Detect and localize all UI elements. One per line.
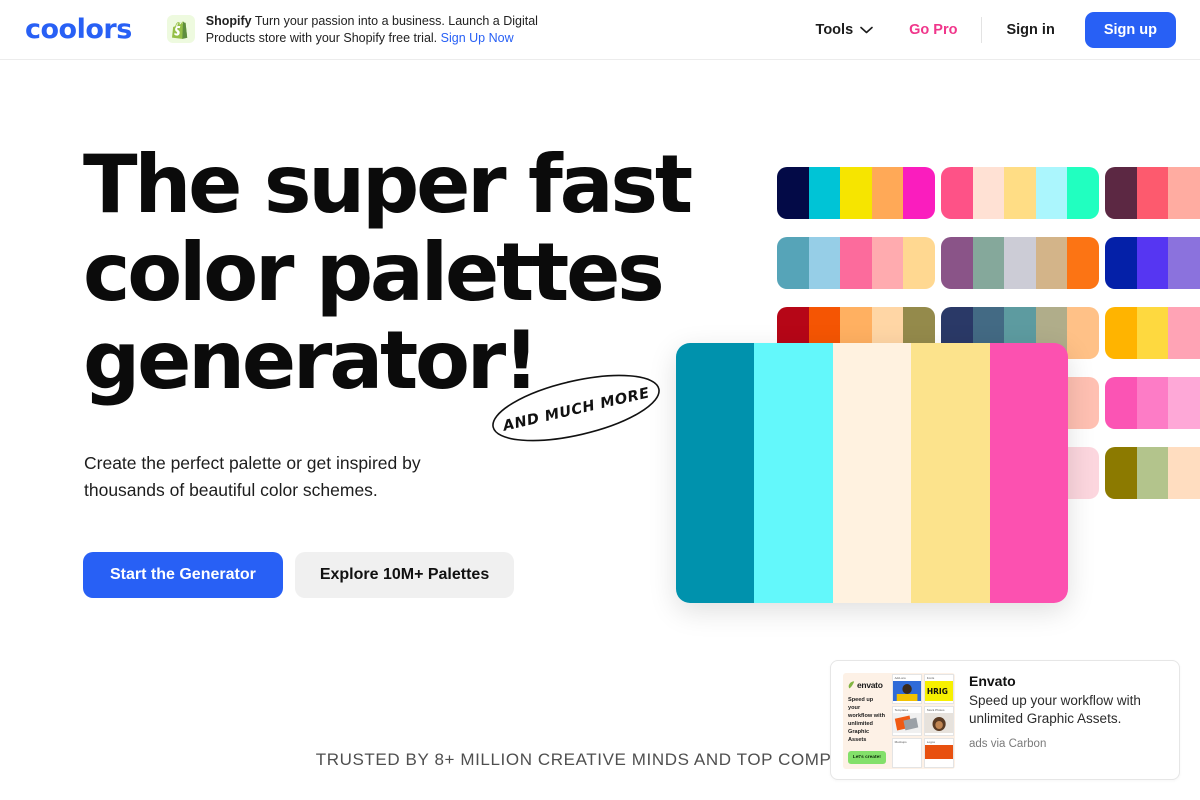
palette-swatch[interactable] [872,167,904,219]
carbon-ad-body: Envato Speed up your workflow with unlim… [969,673,1167,767]
palette-card[interactable] [1105,167,1200,219]
featured-palette-swatch[interactable] [676,343,754,603]
palette-swatch[interactable] [1168,447,1200,499]
palette-card[interactable] [777,167,935,219]
chevron-down-icon [860,22,873,38]
carbon-ad-source[interactable]: ads via Carbon [969,738,1167,750]
palette-swatch[interactable] [903,237,935,289]
palette-swatch[interactable] [1168,307,1200,359]
promo-text: Shopify Turn your passion into a busines… [206,13,587,46]
featured-palette-card[interactable] [676,343,1068,603]
featured-palette-swatch[interactable] [833,343,911,603]
thumb-tile: Logos [924,738,954,768]
headline-line-3: generator! [83,314,536,407]
thumb-tile: Mockups [892,738,922,768]
thumb-tile: Fonts HRIG [924,674,954,704]
thumb-tile: Templates [892,706,922,736]
palette-swatch[interactable] [1036,237,1068,289]
nav-tools-label: Tools [816,22,854,38]
explore-palettes-button[interactable]: Explore 10M+ Palettes [295,552,514,598]
nav-tools[interactable]: Tools [798,22,892,38]
carbon-ad-card[interactable]: envato Speed up your workflow with unlim… [830,660,1180,780]
palette-swatch[interactable] [1105,377,1137,429]
palette-swatch[interactable] [1067,167,1099,219]
palette-swatch[interactable] [1067,307,1099,359]
carbon-ad-description[interactable]: Speed up your workflow with unlimited Gr… [969,692,1167,728]
headline-line-2: color palettes [83,226,662,319]
nav-sign-in[interactable]: Sign in [988,22,1072,38]
palette-swatch[interactable] [1137,447,1169,499]
palette-swatch[interactable] [872,237,904,289]
site-header: coolors Shopify Turn your passion into a… [0,0,1200,60]
palette-swatch[interactable] [1105,307,1137,359]
thumb-tiles-2: Fonts HRIG Stock Photos Logos [923,673,955,769]
and-much-more-badge: AND MUCH MORE [487,372,665,444]
palette-swatch[interactable] [1036,167,1068,219]
palette-swatch[interactable] [1067,447,1099,499]
palette-card[interactable] [777,237,935,289]
promo-cta-link[interactable]: Sign Up Now [441,31,514,45]
start-generator-button[interactable]: Start the Generator [83,552,283,598]
palette-swatch[interactable] [809,167,841,219]
hero-subtitle: Create the perfect palette or get inspir… [84,450,514,504]
palette-swatch[interactable] [1168,167,1200,219]
palette-swatch[interactable] [1137,237,1169,289]
thumb-tiles: Add-ons Templates Mockups [891,673,923,769]
palette-swatch[interactable] [777,237,809,289]
palette-swatch[interactable] [1067,377,1099,429]
svg-text:HRIG: HRIG [927,687,948,696]
palette-swatch[interactable] [1137,307,1169,359]
palette-swatch[interactable] [840,237,872,289]
palette-swatch[interactable] [1105,167,1137,219]
palette-swatch[interactable] [809,237,841,289]
palette-swatch[interactable] [973,167,1005,219]
palette-swatch[interactable] [973,237,1005,289]
palette-card[interactable] [941,237,1099,289]
palette-card[interactable] [1105,377,1200,429]
palette-swatch[interactable] [903,167,935,219]
coolors-landing-page: coolors Shopify Turn your passion into a… [0,0,1200,800]
nav-divider [981,17,982,43]
thumb-tile: Stock Photos [924,706,954,736]
palette-swatch[interactable] [1137,167,1169,219]
palette-swatch[interactable] [941,167,973,219]
nav-go-pro[interactable]: Go Pro [891,22,975,38]
palette-swatch[interactable] [1137,377,1169,429]
subtitle-line-1: Create the perfect palette or get inspir… [84,453,421,473]
envato-logo-text: envato [857,680,883,690]
shopify-bag-icon [167,15,195,43]
hero-cta-group: Start the Generator Explore 10M+ Palette… [83,552,514,598]
palette-swatch[interactable] [941,237,973,289]
thumb-left-panel: envato Speed up your workflow with unlim… [843,673,891,769]
header-nav: Tools Go Pro Sign in Sign up [798,12,1176,48]
carbon-ad-thumbnail: envato Speed up your workflow with unlim… [843,673,955,769]
badge-label: AND MUCH MORE [501,385,652,435]
headline-line-1: The super fast [83,138,690,231]
promo-advertiser: Shopify [206,14,252,28]
thumb-tile-label: Mockups [893,739,921,745]
envato-thumb-button: Let's create! [848,751,886,764]
envato-logo: envato [848,680,886,690]
featured-palette-swatch[interactable] [990,343,1068,603]
palette-card[interactable] [1105,447,1200,499]
palette-swatch[interactable] [1105,237,1137,289]
palette-swatch[interactable] [1168,377,1200,429]
shopify-promo-banner[interactable]: Shopify Turn your passion into a busines… [167,13,587,46]
page-title: The super fast color palettes generator! [83,141,743,405]
palette-card[interactable] [941,167,1099,219]
palette-swatch[interactable] [1168,237,1200,289]
envato-thumb-copy: Speed up your workflow with unlimited Gr… [848,696,886,744]
sign-up-button[interactable]: Sign up [1085,12,1176,48]
palette-swatch[interactable] [777,167,809,219]
featured-palette-swatch[interactable] [754,343,832,603]
palette-swatch[interactable] [1004,237,1036,289]
palette-swatch[interactable] [840,167,872,219]
palette-swatch[interactable] [1004,167,1036,219]
featured-palette-swatch[interactable] [911,343,989,603]
palette-card[interactable] [1105,237,1200,289]
thumb-tile: Add-ons [892,674,922,704]
subtitle-line-2: thousands of beautiful color schemes. [84,480,378,500]
palette-card[interactable] [1105,307,1200,359]
palette-swatch[interactable] [1067,237,1099,289]
carbon-ad-title[interactable]: Envato [969,673,1167,689]
palette-swatch[interactable] [1105,447,1137,499]
coolors-logo[interactable]: coolors [25,16,132,43]
